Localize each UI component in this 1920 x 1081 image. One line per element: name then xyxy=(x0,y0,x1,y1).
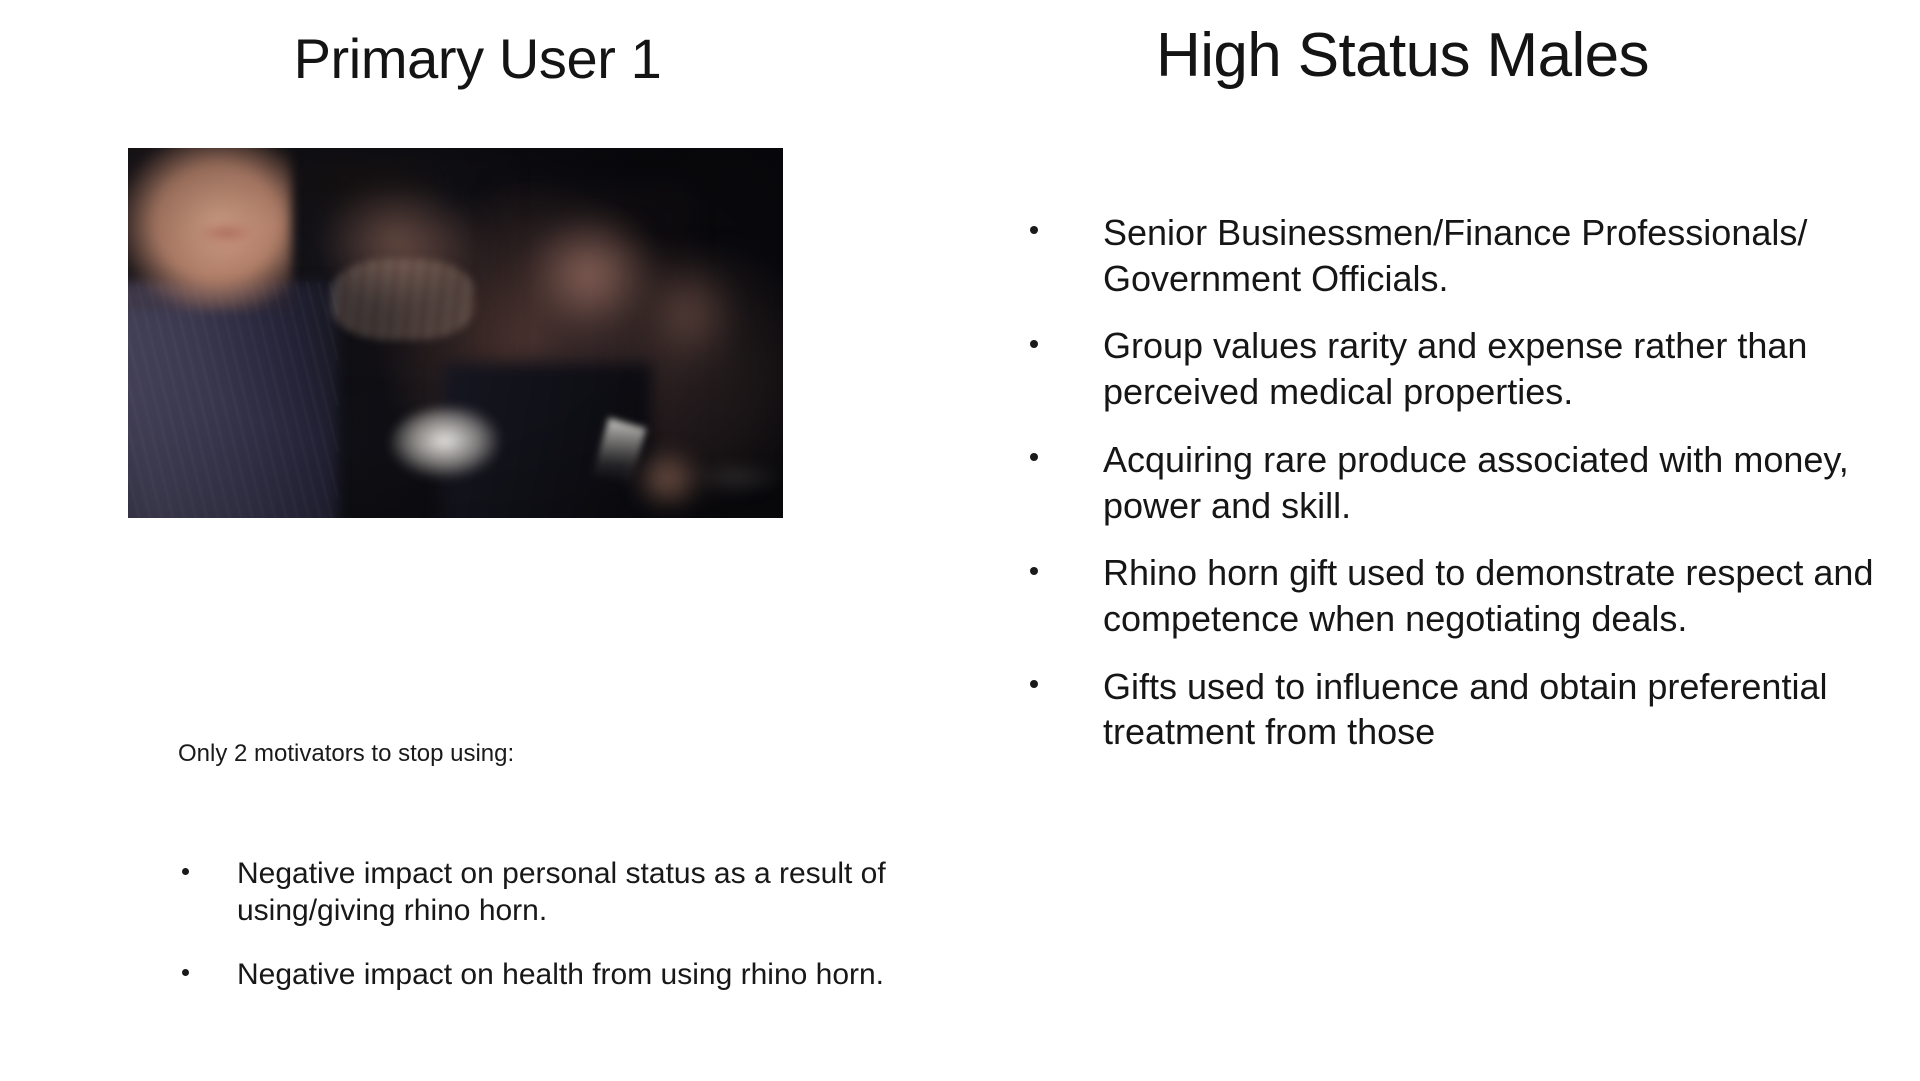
left-column-lead-note: Only 2 motivators to stop using: xyxy=(178,738,918,769)
list-item: Negative impact on health from using rhi… xyxy=(178,956,923,993)
left-column-title: Primary User 1 xyxy=(0,28,955,91)
right-column: High Status Males Senior Businessmen/Fin… xyxy=(955,0,1920,1081)
list-item: Senior Businessmen/Finance Professionals… xyxy=(1018,210,1918,301)
boardroom-businessmen-photo xyxy=(128,148,783,518)
list-item: Gifts used to influence and obtain prefe… xyxy=(1018,664,1918,755)
left-column-bullet-list: Negative impact on personal status as a … xyxy=(178,855,923,1021)
left-column: Primary User 1 Only 2 motivators to stop… xyxy=(0,0,955,1081)
list-item: Rhino horn gift used to demonstrate resp… xyxy=(1018,550,1918,641)
bullet-dot-icon xyxy=(1030,680,1038,688)
bullet-dot-icon xyxy=(1030,567,1038,575)
list-item-text: Negative impact on personal status as a … xyxy=(237,857,886,927)
list-item-text: Acquiring rare produce associated with m… xyxy=(1103,439,1849,526)
list-item: Group values rarity and expense rather t… xyxy=(1018,323,1918,414)
bullet-dot-icon xyxy=(1030,453,1038,461)
right-column-bullet-list: Senior Businessmen/Finance Professionals… xyxy=(1018,210,1918,777)
list-item-text: Negative impact on health from using rhi… xyxy=(237,958,884,991)
bullet-dot-icon xyxy=(182,868,189,875)
right-column-title: High Status Males xyxy=(885,22,1920,90)
list-item: Negative impact on personal status as a … xyxy=(178,855,923,929)
bullet-dot-icon xyxy=(1030,226,1038,234)
bullet-dot-icon xyxy=(182,969,189,976)
bullet-dot-icon xyxy=(1030,340,1038,348)
list-item-text: Gifts used to influence and obtain prefe… xyxy=(1103,666,1827,753)
list-item-text: Group values rarity and expense rather t… xyxy=(1103,325,1807,412)
list-item-text: Senior Businessmen/Finance Professionals… xyxy=(1103,212,1807,299)
photo-vignette xyxy=(128,148,783,518)
slide-canvas: Primary User 1 Only 2 motivators to stop… xyxy=(0,0,1920,1081)
list-item-text: Rhino horn gift used to demonstrate resp… xyxy=(1103,552,1873,639)
list-item: Acquiring rare produce associated with m… xyxy=(1018,437,1918,528)
